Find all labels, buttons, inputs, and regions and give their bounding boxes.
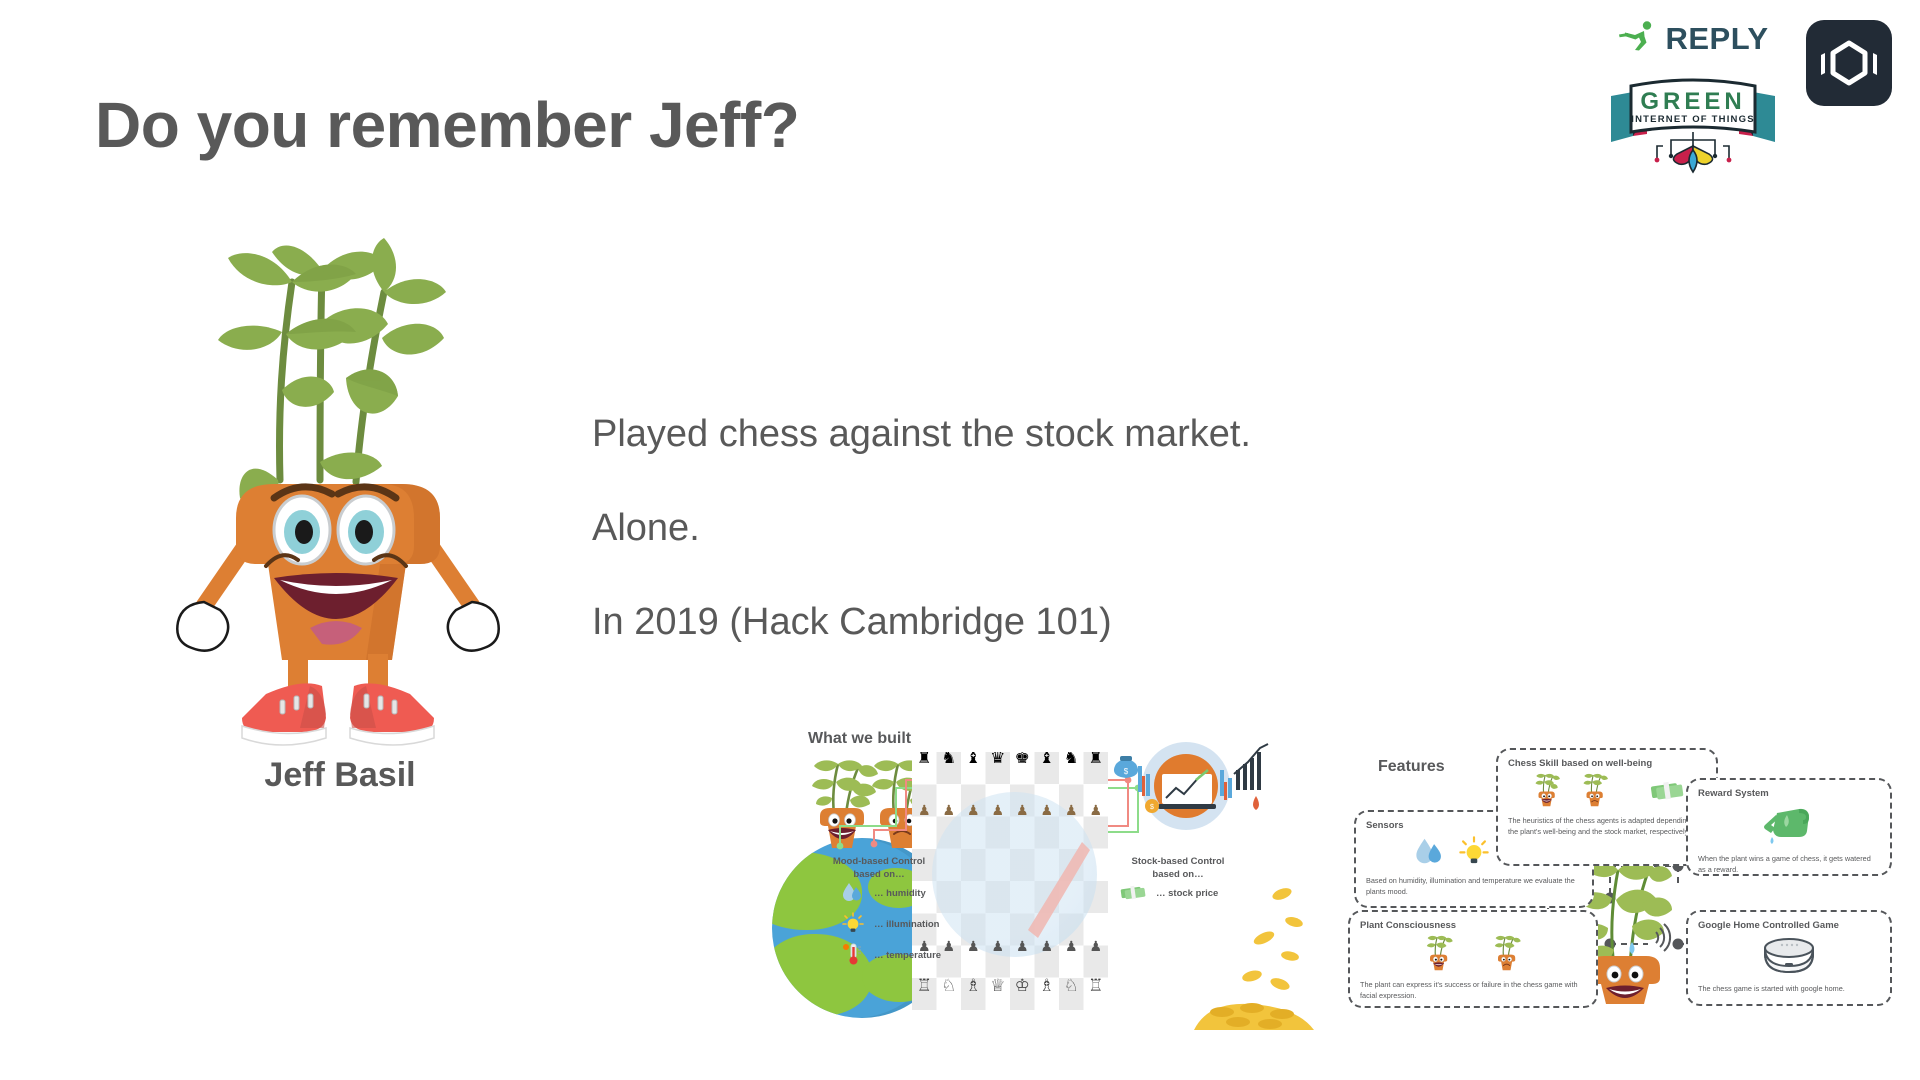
- figure-features: Features: [1348, 748, 1898, 1038]
- sad-plant-icon: [1489, 935, 1525, 976]
- feature-card-google-home[interactable]: Google Home Controlled Game The chess ga…: [1686, 910, 1892, 1006]
- happy-plant-icon: [1530, 773, 1564, 812]
- stock-row-price: … stock price: [1120, 884, 1218, 903]
- lightbulb-icon: [842, 912, 864, 937]
- svg-text:$: $: [1124, 767, 1129, 776]
- sensor-label-temperature: … temperature: [874, 950, 941, 961]
- feature-card-plant-consciousness-title: Plant Consciousness: [1360, 920, 1596, 931]
- feature-card-chess-skill[interactable]: Chess Skill based on well-being: [1496, 748, 1718, 866]
- money-bag-icon: $: [1114, 756, 1138, 778]
- svg-text:GREEN: GREEN: [1640, 88, 1745, 115]
- sensor-row-humidity: … humidity: [842, 882, 926, 905]
- lightbulb-icon: [1459, 836, 1489, 871]
- mood-control-caption: Mood-based Control based on…: [814, 856, 944, 882]
- running-man-icon: [1617, 20, 1657, 57]
- feature-card-sensors-body: Based on humidity, illumination and temp…: [1366, 876, 1582, 897]
- happy-plant-icon: [1421, 935, 1457, 976]
- body-text-block: Played chess against the stock market. A…: [592, 415, 1251, 641]
- green-internet-of-things-logo: GREEN INTERNET OF THINGS: [1607, 62, 1779, 172]
- figure-what-we-built: What we built: [778, 730, 1308, 1020]
- stock-market-illustration: $ $: [1108, 740, 1228, 860]
- feature-card-plant-consciousness[interactable]: Plant Consciousness: [1348, 910, 1598, 1008]
- water-drop-icon: [842, 882, 864, 905]
- sensor-row-temperature: … temperature: [842, 942, 941, 969]
- reply-wordmark: REPLY: [1665, 23, 1768, 54]
- svg-text:$: $: [1150, 804, 1154, 811]
- feature-card-chess-skill-title: Chess Skill based on well-being: [1508, 758, 1716, 769]
- body-line-3: In 2019 (Hack Cambridge 101): [592, 603, 1251, 641]
- svg-text:INTERNET OF THINGS: INTERNET OF THINGS: [1631, 114, 1754, 125]
- water-drop-icon: [1415, 837, 1445, 870]
- sensor-row-illumination: … illumination: [842, 912, 939, 937]
- reply-green-iot-logos: REPLY GREEN INTERNET OF THINGS: [1610, 20, 1776, 172]
- feature-card-plant-consciousness-body: The plant can express it's success or fa…: [1360, 980, 1586, 1001]
- feature-card-chess-skill-body: The heuristics of the chess agents is ad…: [1508, 816, 1706, 837]
- banknotes-icon: [1120, 884, 1146, 903]
- hexagon-logo-icon: [1806, 20, 1892, 106]
- watering-can-icon: [1763, 803, 1815, 850]
- stock-control-caption: Stock-based Control based on…: [1108, 856, 1248, 882]
- feature-card-reward-system[interactable]: Reward System When the plant wins a game…: [1686, 778, 1892, 876]
- jeff-shoes: [242, 683, 434, 745]
- sad-plant-icon: [1578, 773, 1612, 812]
- feature-card-reward-system-body: When the plant wins a game of chess, it …: [1698, 854, 1880, 875]
- jeff-basil-illustration: [170, 230, 510, 750]
- body-line-1: Played chess against the stock market.: [592, 415, 1251, 453]
- jeff-name-label: Jeff Basil: [170, 756, 510, 795]
- google-home-icon: [1757, 935, 1821, 980]
- sensor-label-illumination: … illumination: [874, 919, 939, 930]
- sensor-label-humidity: … humidity: [874, 888, 926, 899]
- stock-label-price: … stock price: [1156, 888, 1218, 899]
- thermometer-icon: [842, 942, 864, 969]
- feature-card-google-home-icons: [1688, 935, 1890, 980]
- banknotes-icon: [1650, 779, 1684, 806]
- feature-card-chess-skill-icons: [1498, 773, 1716, 812]
- feature-card-google-home-title: Google Home Controlled Game: [1698, 920, 1890, 931]
- basil-plant-icon: [218, 238, 446, 513]
- reply-logo: REPLY: [1617, 20, 1768, 56]
- body-line-2: Alone.: [592, 509, 1251, 547]
- feature-card-plant-consciousness-icons: [1350, 935, 1596, 976]
- feature-card-google-home-body: The chess game is started with google ho…: [1698, 984, 1880, 995]
- slide-root: REPLY GREEN INTERNET OF THINGS: [0, 0, 1920, 1080]
- feature-card-reward-system-title: Reward System: [1698, 788, 1890, 799]
- page-title: Do you remember Jeff?: [95, 88, 799, 162]
- feature-card-reward-system-icons: [1688, 803, 1890, 850]
- logo-cluster: REPLY GREEN INTERNET OF THINGS: [1610, 20, 1892, 172]
- jeff-character-block: Jeff Basil: [170, 230, 510, 795]
